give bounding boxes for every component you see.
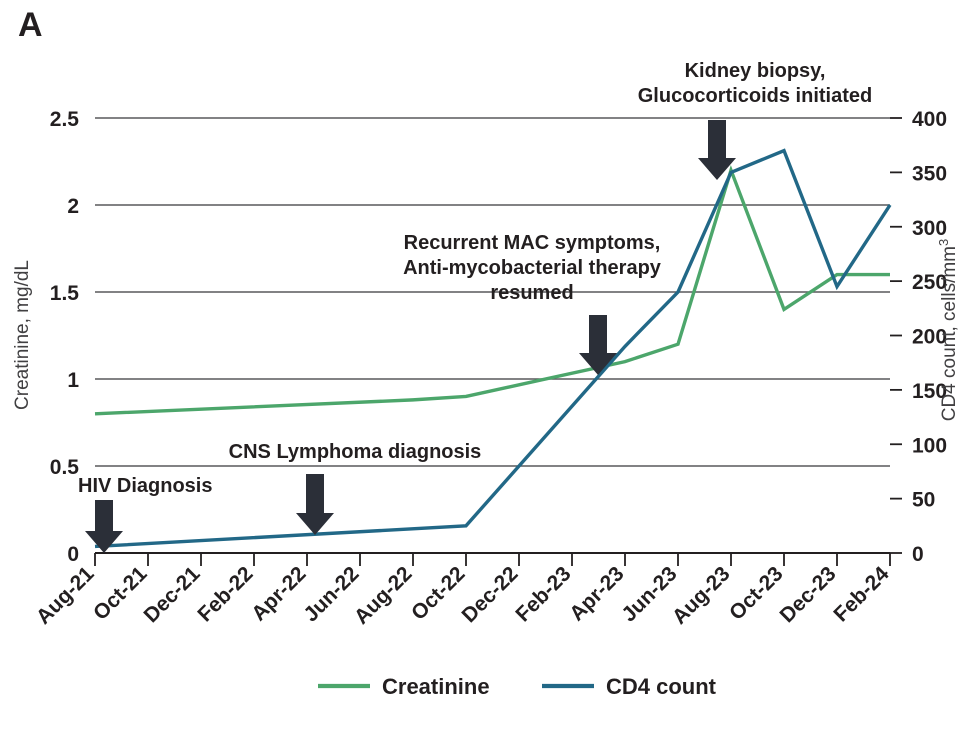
series-line-cd4-count [95, 151, 890, 547]
right-axis-tick-label: 100 [912, 434, 947, 457]
annotation-label: CNS Lymphoma diagnosis [229, 441, 482, 463]
annotation-label: resumed [490, 282, 573, 304]
data-series-group [95, 151, 890, 547]
left-axis-title: Creatinine, mg/dL [12, 260, 33, 410]
right-axis-title-text: CD4 count, cells/mm3 [936, 239, 960, 422]
x-axis-tick-label: Dec-23 [776, 562, 841, 627]
x-axis-tick-label: Oct-21 [89, 562, 152, 625]
left-axis-tick-label: 2 [67, 195, 79, 218]
x-axis-tick-label: Aug-23 [668, 562, 735, 629]
right-axis-tick-label: 0 [912, 543, 924, 566]
legend-group: CreatinineCD4 count [318, 674, 717, 699]
x-axis-tick-label: Feb-23 [511, 562, 575, 626]
annotation-cns-lymphoma-diagnosis: CNS Lymphoma diagnosis [229, 441, 482, 535]
right-axis-tick-label: 400 [912, 108, 947, 131]
x-axis-tick-label: Feb-24 [829, 562, 893, 626]
x-axis-tick-labels: Aug-21Oct-21Dec-21Feb-22Apr-22Jun-22Aug-… [32, 562, 894, 629]
x-axis-tick-label: Oct-22 [407, 562, 469, 624]
x-axis-tick-label: Apr-22 [247, 562, 310, 625]
right-axis-tick-label: 300 [912, 217, 947, 240]
x-axis-tick-label: Aug-21 [32, 562, 99, 629]
annotation-label: Kidney biopsy, [685, 60, 826, 82]
left-axis-tick-label: 1.5 [50, 282, 80, 305]
x-axis-tick-label: Apr-23 [565, 562, 628, 625]
right-axis-tick-label: 50 [912, 489, 935, 512]
annotation-label: Anti-mycobacterial therapy [403, 257, 662, 279]
annotations-group: HIV DiagnosisCNS Lymphoma diagnosisRecur… [78, 60, 872, 553]
right-axis-title: CD4 count, cells/mm3 [936, 239, 960, 422]
annotation-arrow-icon [296, 474, 334, 535]
chart-canvas: 00.511.522.5 050100150200250300350400 Au… [0, 0, 977, 734]
left-axis-tick-label: 2.5 [50, 108, 80, 131]
annotation-label: HIV Diagnosis [78, 475, 212, 497]
left-axis-tick-label: 0.5 [50, 456, 80, 479]
x-axis-tick-label: Feb-22 [193, 562, 257, 626]
annotation-recurrent-mac-symptoms: Recurrent MAC symptoms,Anti-mycobacteria… [403, 232, 662, 375]
annotation-label: Recurrent MAC symptoms, [404, 232, 661, 254]
left-axis-tick-labels: 00.511.522.5 [50, 108, 80, 566]
x-axis-tick-label: Oct-23 [725, 562, 787, 624]
panel-label: A [18, 6, 43, 45]
left-axis-tick-label: 0 [67, 543, 79, 566]
x-axis-tick-label: Aug-22 [350, 562, 417, 629]
left-axis-tick-label: 1 [67, 369, 79, 392]
figure-panel: A 00.511.522.5 050100150200250300350400 … [0, 0, 977, 734]
right-axis-tick-label: 350 [912, 162, 947, 185]
legend-label: Creatinine [382, 674, 490, 699]
x-axis-tick-label: Dec-21 [140, 562, 205, 627]
x-axis-tick-label: Dec-22 [458, 562, 523, 627]
legend-label: CD4 count [606, 674, 717, 699]
annotation-label: Glucocorticoids initiated [638, 85, 872, 107]
